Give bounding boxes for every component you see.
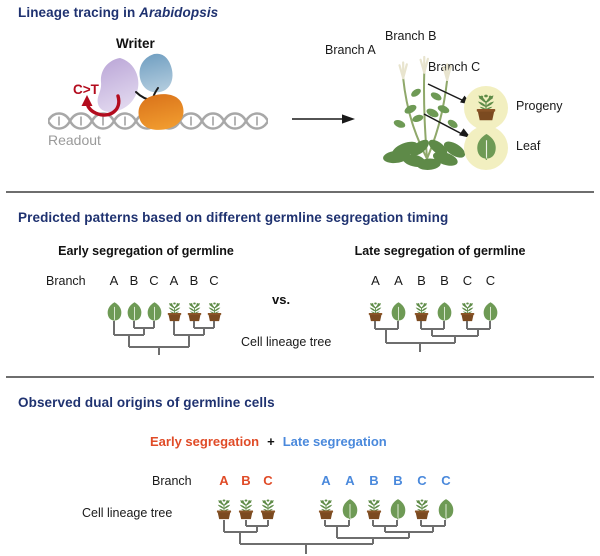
- panel2-branch-label: Branch: [46, 274, 86, 288]
- panel1-title: Lineage tracing in Arabidopsis: [18, 5, 218, 20]
- letter: B: [235, 473, 257, 488]
- panel2-right-lineage-tree: [364, 321, 504, 361]
- letter: A: [104, 273, 124, 288]
- panel-lineage-tracing: Lineage tracing in Arabidopsis Writer C>…: [0, 0, 600, 192]
- sample-pot: [213, 490, 235, 520]
- late-segregation-heading: Late segregation of germline: [330, 244, 550, 258]
- sample-pot: [410, 490, 434, 520]
- letter: C: [410, 473, 434, 488]
- letter: B: [433, 273, 456, 288]
- letter: A: [314, 473, 338, 488]
- letter: A: [364, 273, 387, 288]
- sample-pot: [184, 290, 204, 322]
- edit-label: C>T: [73, 82, 99, 97]
- panel3-lineage-tree: [213, 520, 463, 556]
- sample-pot: [410, 290, 433, 322]
- panel3-early-letters: A B C: [213, 473, 279, 488]
- sample-leaf: [124, 290, 144, 322]
- panel-predicted-patterns: Predicted patterns based on different ge…: [0, 192, 600, 376]
- panel2-left-letters: A B C A B C: [104, 273, 224, 288]
- branch-b-label: Branch B: [385, 29, 436, 43]
- letter: A: [164, 273, 184, 288]
- progeny-label: Progeny: [516, 99, 563, 113]
- branch-a-label: Branch A: [325, 43, 376, 57]
- panel3-title: Observed dual origins of germline cells: [18, 395, 275, 410]
- letter: C: [479, 273, 502, 288]
- leaf-label: Leaf: [516, 139, 540, 153]
- sample-pot: [164, 290, 184, 322]
- letter: B: [124, 273, 144, 288]
- plus-label: +: [259, 434, 283, 449]
- sample-leaf: [144, 290, 164, 322]
- process-arrow-icon: [292, 112, 356, 126]
- sample-pot: [456, 290, 479, 322]
- letter: A: [213, 473, 235, 488]
- sample-pot: [362, 490, 386, 520]
- letter: C: [144, 273, 164, 288]
- sample-leaf: [479, 290, 502, 322]
- readout-label: Readout: [48, 132, 101, 148]
- sample-pot: [204, 290, 224, 322]
- sample-pot: [235, 490, 257, 520]
- panel3-late-icons: [314, 490, 458, 520]
- letter: C: [434, 473, 458, 488]
- sample-leaf: [104, 290, 124, 322]
- letter: C: [456, 273, 479, 288]
- writer-label: Writer: [116, 36, 155, 51]
- sample-leaf: [387, 290, 410, 322]
- panel2-right-letters: A A B B C C: [364, 273, 502, 288]
- progeny-pot-icon: [473, 93, 499, 121]
- sample-leaf: [338, 490, 362, 520]
- letter: C: [204, 273, 224, 288]
- panel2-right-icons: [364, 290, 502, 322]
- letter: B: [410, 273, 433, 288]
- sample-leaf: [386, 490, 410, 520]
- sample-leaf: [434, 490, 458, 520]
- panel2-left-icons: [104, 290, 224, 322]
- leaf-icon: [475, 133, 498, 160]
- letter: A: [338, 473, 362, 488]
- letter: C: [257, 473, 279, 488]
- late-segregation-label: Late segregation: [283, 434, 387, 449]
- early-segregation-label: Early segregation: [150, 434, 259, 449]
- panel2-tree-label: Cell lineage tree: [241, 335, 331, 349]
- vs-label: vs.: [272, 292, 290, 307]
- sample-leaf: [433, 290, 456, 322]
- panel1-title-italic: Arabidopsis: [139, 5, 218, 20]
- panel3-late-letters: A A B B C C: [314, 473, 458, 488]
- panel3-segregation-headings: Early segregation+Late segregation: [150, 434, 387, 449]
- letter: B: [386, 473, 410, 488]
- panel2-title: Predicted patterns based on different ge…: [18, 210, 448, 225]
- sample-pot: [314, 490, 338, 520]
- letter: A: [387, 273, 410, 288]
- sample-pot: [257, 490, 279, 520]
- panel1-title-prefix: Lineage tracing in: [18, 5, 139, 20]
- early-segregation-heading: Early segregation of germline: [36, 244, 256, 258]
- letter: B: [362, 473, 386, 488]
- panel-observed-dual-origins: Observed dual origins of germline cells …: [0, 377, 600, 555]
- panel2-left-lineage-tree: [104, 321, 224, 361]
- sample-pot: [364, 290, 387, 322]
- panel3-branch-label: Branch: [152, 474, 192, 488]
- letter: B: [184, 273, 204, 288]
- panel3-early-icons: [213, 490, 279, 520]
- panel3-tree-label: Cell lineage tree: [82, 506, 172, 520]
